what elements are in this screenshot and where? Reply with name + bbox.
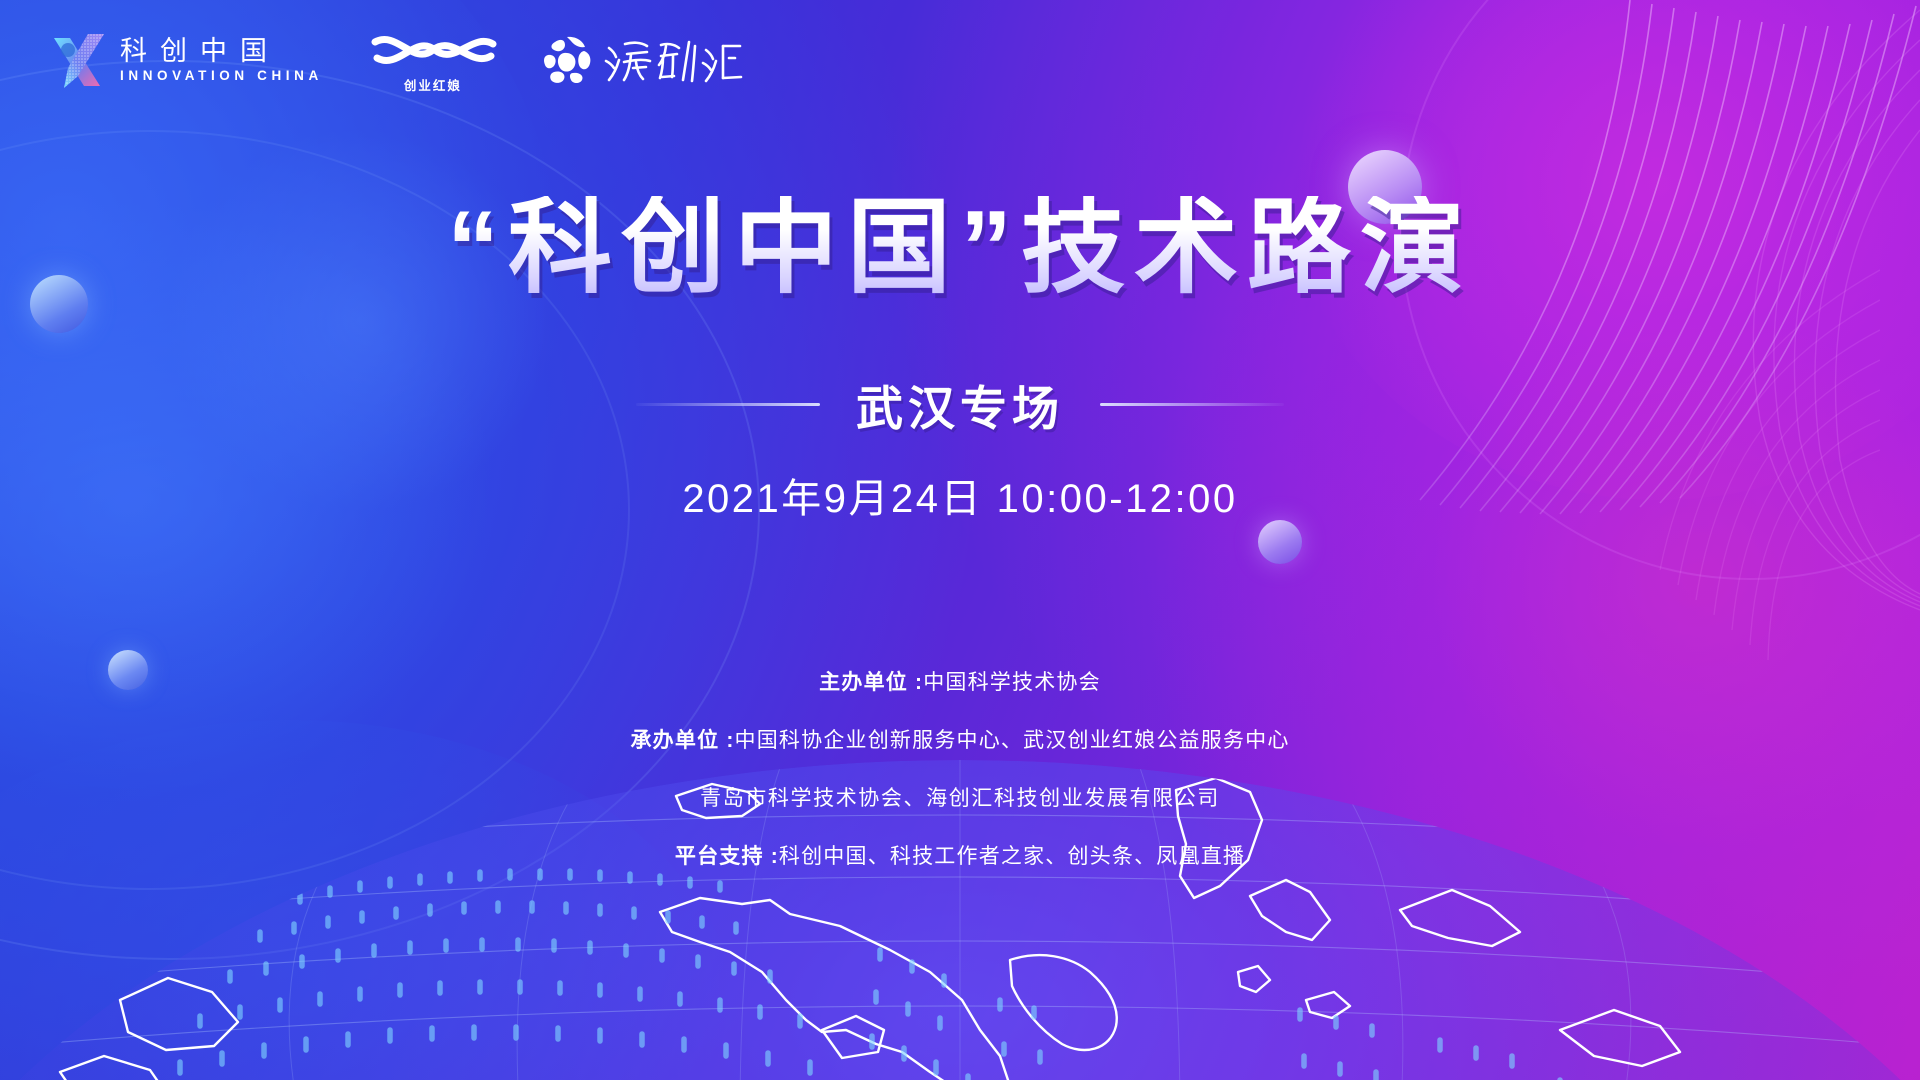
info-value: 中国科协企业创新服务中心、武汉创业红娘公益服务中心 — [735, 729, 1290, 752]
haichuanghui-wordmark — [603, 34, 743, 86]
event-datetime: 2021年9月24日 10:00-12:00 — [0, 466, 1920, 524]
info-value: 科创中国、科技工作者之家、创头条、凤凰直播 — [779, 845, 1245, 868]
info-row: 平台支持 :科创中国、科技工作者之家、创头条、凤凰直播 — [675, 828, 1245, 886]
blob-circle-mark — [543, 35, 593, 85]
info-row: 青岛市科学技术协会、海创汇科技创业发展有限公司 — [700, 770, 1220, 828]
logo-caption: 创业红娘 — [404, 75, 462, 94]
promo-banner: 科创中国 INNOVATION CHINA 创业红娘 — [0, 0, 1920, 1080]
subtitle: 武汉专场 — [856, 370, 1064, 439]
info-value: 青岛市科学技术协会、海创汇科技创业发展有限公司 — [700, 787, 1220, 810]
rope-knot-mark — [367, 26, 499, 74]
banner-content: “科创中国”技术路演 武汉专场 2021年9月24日 10:00-12:00 主… — [0, 0, 1920, 1080]
page-title: “科创中国”技术路演 — [0, 196, 1920, 300]
info-label: 承办单位 : — [630, 729, 734, 752]
logo-chuangye-hongniang: 创业红娘 — [367, 26, 499, 94]
logo-haichuanghui — [543, 34, 743, 86]
info-label: 主办单位 : — [819, 671, 923, 694]
info-label: 平台支持 : — [675, 845, 779, 868]
subtitle-row: 武汉专场 — [0, 370, 1920, 439]
info-row: 主办单位 :中国科学技术协会 — [819, 654, 1101, 712]
logo-chinese-label: 科创中国 — [120, 36, 323, 68]
innovation-china-text: 科创中国 INNOVATION CHINA — [120, 36, 323, 84]
innovation-china-x-mark — [48, 28, 110, 92]
info-value: 中国科学技术协会 — [923, 671, 1101, 694]
subtitle-rule-right — [1100, 403, 1284, 406]
sponsor-logo-bar: 科创中国 INNOVATION CHINA 创业红娘 — [48, 26, 743, 94]
info-row: 承办单位 :中国科协企业创新服务中心、武汉创业红娘公益服务中心 — [630, 712, 1289, 770]
logo-innovation-china: 科创中国 INNOVATION CHINA — [48, 28, 323, 92]
logo-english-label: INNOVATION CHINA — [120, 68, 323, 84]
subtitle-rule-left — [636, 403, 820, 406]
organizer-info-block: 主办单位 :中国科学技术协会 承办单位 :中国科协企业创新服务中心、武汉创业红娘… — [0, 654, 1920, 886]
